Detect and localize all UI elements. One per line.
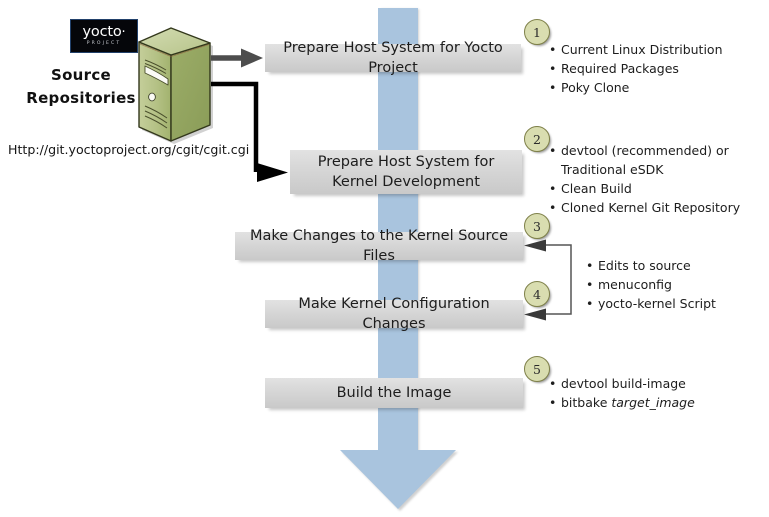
connector-server-to-step2 xyxy=(211,84,288,182)
connector-server-to-step1 xyxy=(211,49,263,68)
diagram-canvas: yocto· PROJECT Source Repositories Http:… xyxy=(0,0,769,517)
server-icon xyxy=(139,28,213,144)
connector-notes-to-steps-3-4 xyxy=(524,240,571,321)
connector-overlay xyxy=(0,0,769,517)
